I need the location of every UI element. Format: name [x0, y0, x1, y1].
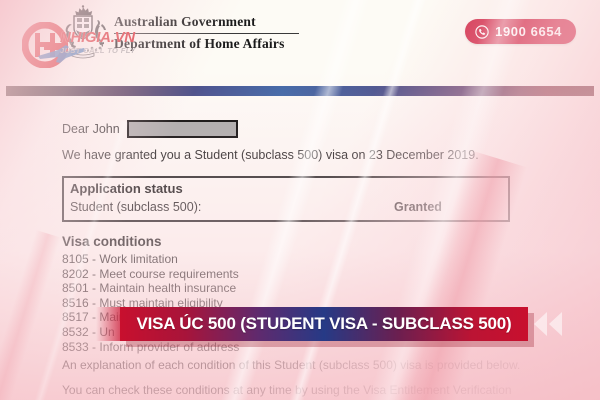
phone-badge[interactable]: 1900 6654	[465, 19, 576, 44]
salutation-text: Dear John	[62, 122, 120, 136]
screenshot-root: Australian Government Department of Home…	[0, 0, 600, 400]
visa-condition-item: 8202 - Meet course requirements	[62, 267, 239, 282]
government-line-1: Australian Government	[114, 14, 354, 30]
application-status-row: Student (subclass 500): Granted	[70, 200, 502, 214]
application-status-heading: Application status	[70, 181, 183, 196]
application-status-box: Application status Student (subclass 500…	[62, 176, 510, 222]
promo-banner: VISA ÚC 500 (STUDENT VISA - SUBCLASS 500…	[120, 307, 528, 341]
vevo-paragraph: You can check these conditions at any ti…	[62, 383, 532, 400]
explanation-paragraph: An explanation of each condition of this…	[62, 358, 520, 372]
salutation-line: Dear John	[62, 120, 238, 138]
masthead: Australian Government Department of Home…	[54, 4, 354, 66]
application-status-label: Student (subclass 500):	[70, 200, 201, 214]
grant-sentence: We have granted you a Student (subclass …	[62, 148, 479, 162]
redacted-name-block	[127, 120, 238, 138]
visa-conditions-heading: Visa conditions	[62, 234, 162, 249]
visa-condition-item: 8501 - Maintain health insurance	[62, 281, 239, 296]
header-gradient-rule	[6, 86, 594, 96]
application-status-value: Granted	[394, 200, 442, 214]
phone-number: 1900 6654	[495, 24, 562, 39]
government-wordmark: Australian Government Department of Home…	[114, 14, 354, 52]
visa-condition-item: 8105 - Work limitation	[62, 252, 239, 267]
australian-coat-of-arms-icon	[54, 4, 112, 60]
government-line-2: Department of Home Affairs	[114, 36, 354, 52]
wordmark-divider	[114, 33, 299, 34]
phone-circle-icon	[475, 25, 489, 39]
promo-banner-text: VISA ÚC 500 (STUDENT VISA - SUBCLASS 500…	[136, 314, 511, 334]
